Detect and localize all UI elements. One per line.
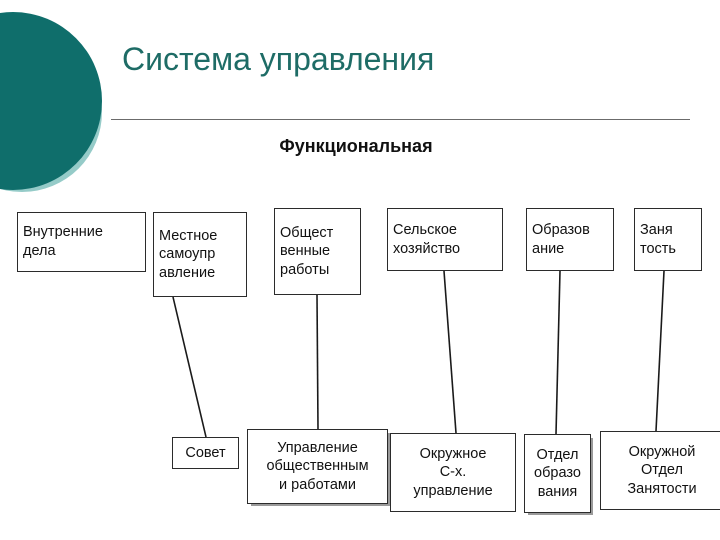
box-employment[interactable]: Занятость bbox=[634, 208, 702, 271]
connector-public-pwmgmt bbox=[317, 295, 318, 429]
box-agriculture-text: Сельскоехозяйство bbox=[393, 221, 497, 258]
box-public-works-management-text: Управлениеобщественными работами bbox=[253, 439, 382, 495]
connector-agri-agrimgmt bbox=[444, 271, 456, 433]
connector-education-edudept bbox=[556, 271, 560, 434]
box-district-agriculture-administration-text: ОкружноеС-х.управление bbox=[396, 445, 510, 501]
box-public-works[interactable]: Общественныеработы bbox=[274, 208, 361, 295]
box-education[interactable]: Образование bbox=[526, 208, 614, 271]
box-council[interactable]: Совет bbox=[172, 437, 239, 469]
box-council-text: Совет bbox=[178, 444, 233, 463]
box-agriculture[interactable]: Сельскоехозяйство bbox=[387, 208, 503, 271]
box-education-department-text: Отделобразования bbox=[530, 446, 585, 502]
box-education-department[interactable]: Отделобразования bbox=[524, 434, 591, 513]
box-district-employment-department-text: ОкружнойОтделЗанятости bbox=[606, 443, 718, 499]
box-local-self-government-text: Местноесамоуправление bbox=[159, 227, 241, 283]
box-internal-affairs[interactable]: Внутренниедела bbox=[17, 212, 146, 272]
box-local-self-government[interactable]: Местноесамоуправление bbox=[153, 212, 247, 297]
box-education-text: Образование bbox=[532, 221, 608, 258]
box-internal-affairs-text: Внутренниедела bbox=[23, 223, 140, 260]
connector-employment-empdept bbox=[656, 271, 664, 431]
box-employment-text: Занятость bbox=[640, 221, 696, 258]
box-public-works-management[interactable]: Управлениеобщественными работами bbox=[247, 429, 388, 504]
box-public-works-text: Общественныеработы bbox=[280, 224, 355, 280]
slide-canvas: Система управления Функциональная Внутре… bbox=[0, 0, 720, 540]
box-district-employment-department[interactable]: ОкружнойОтделЗанятости bbox=[600, 431, 720, 510]
connector-local-council bbox=[173, 297, 206, 437]
box-district-agriculture-administration[interactable]: ОкружноеС-х.управление bbox=[390, 433, 516, 512]
